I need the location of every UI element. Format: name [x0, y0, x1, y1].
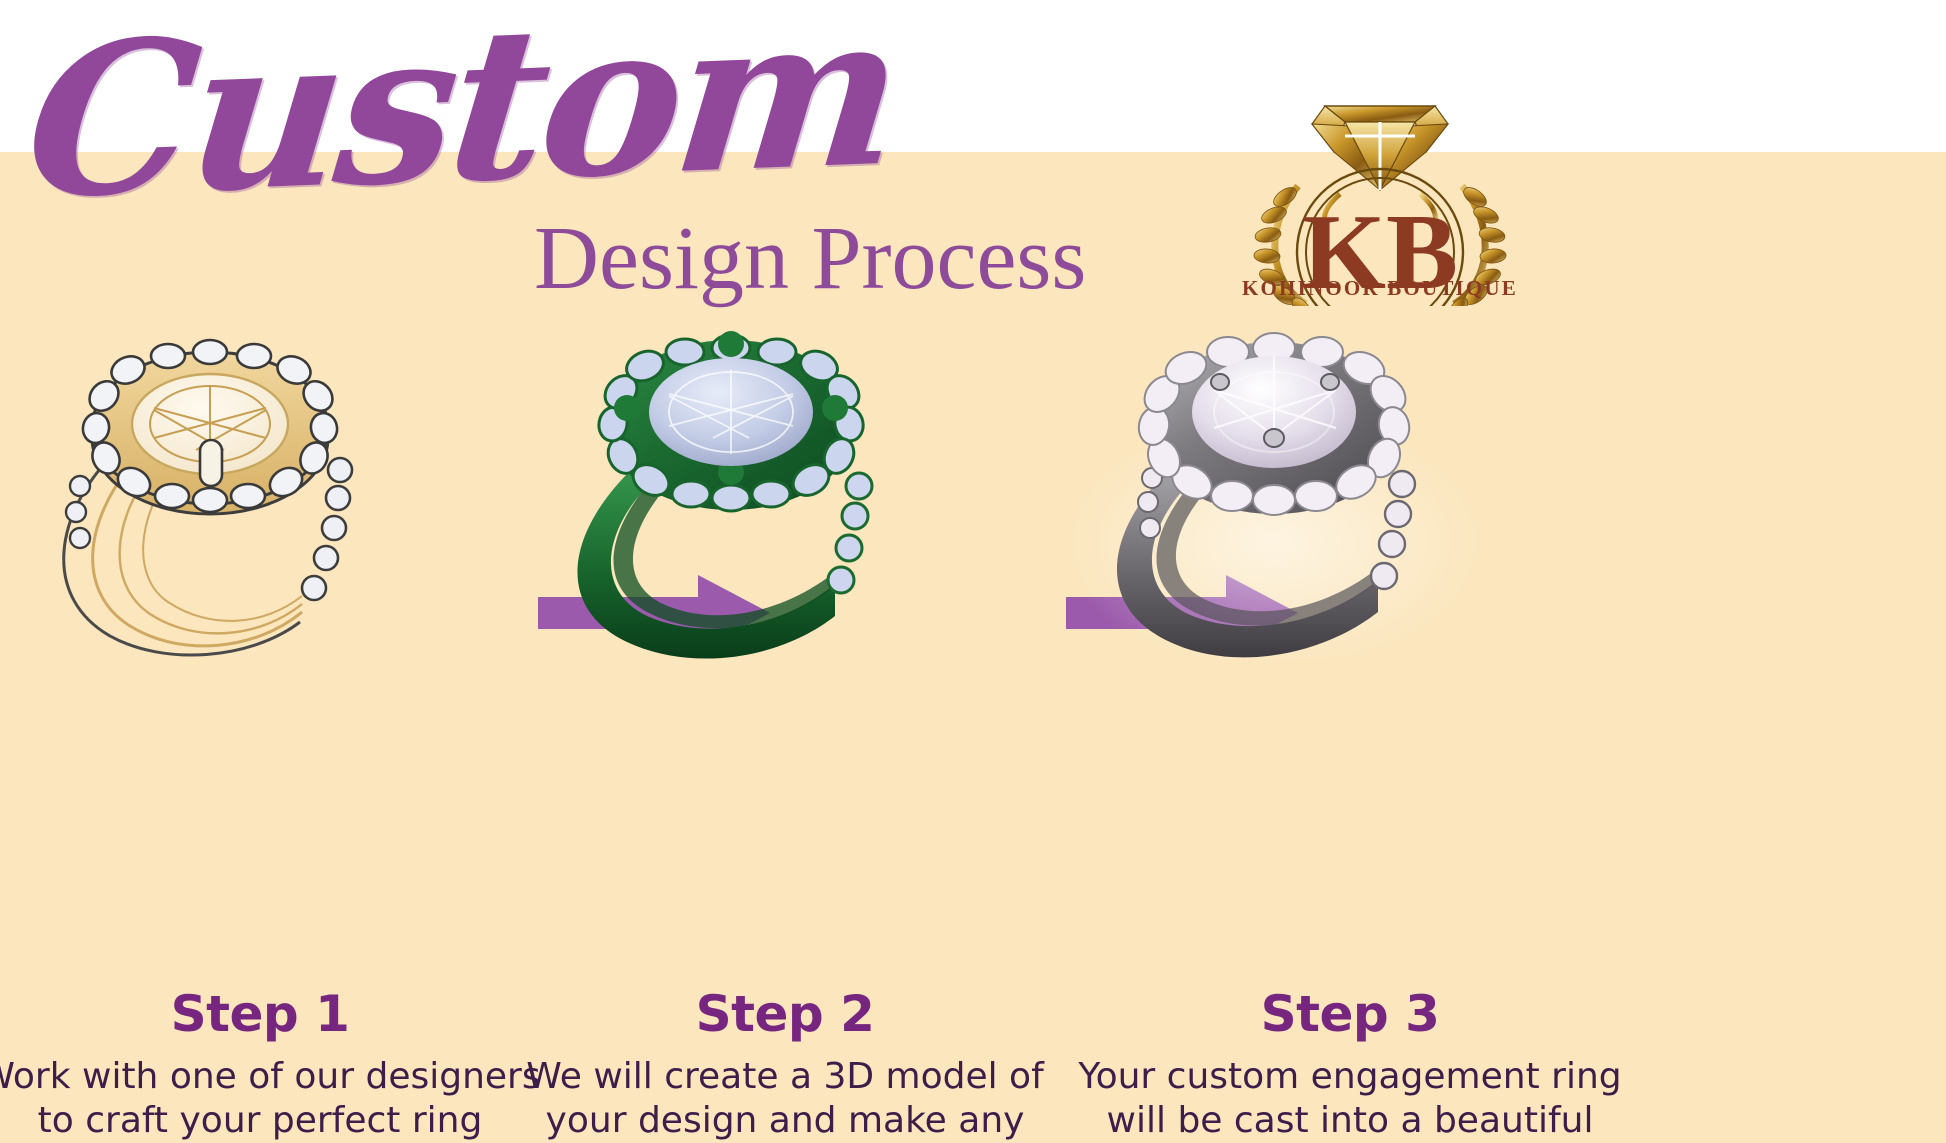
logo-artwork: KB	[1230, 66, 1530, 306]
infographic-canvas: Custom Design Process	[0, 0, 1946, 1143]
ring-3d-model-green	[505, 330, 1065, 660]
step-2-title: Step 2	[505, 985, 1065, 1043]
step-3-title: Step 3	[1070, 985, 1630, 1043]
step-2-desc-line-1: We will create a 3D model of	[475, 1055, 1095, 1099]
brand-logo[interactable]: KB	[1230, 66, 1530, 306]
page-title-script: Custom	[19, 0, 906, 228]
step-3-desc-line-2: will be cast into a beautiful	[1040, 1099, 1660, 1143]
ring-finished-photo	[1040, 330, 1600, 660]
ring-cad-sketch	[0, 330, 550, 660]
page-subtitle: Design Process	[534, 214, 1086, 304]
step-3-block: Step 3 Your custom engagement ring will …	[1040, 330, 1600, 660]
step-3-description: Your custom engagement ring will be cast…	[1040, 1055, 1660, 1143]
step-2-block: Step 2 We will create a 3D model of your…	[505, 330, 1065, 660]
step-3-desc-line-1: Your custom engagement ring	[1040, 1055, 1660, 1099]
step-2-description: We will create a 3D model of your design…	[475, 1055, 1095, 1143]
step-1-title: Step 1	[0, 985, 540, 1043]
brand-name: KOHINOOR BOUTIQUE	[1222, 276, 1538, 301]
step-2-desc-line-2: your design and make any	[475, 1099, 1095, 1143]
step-1-block: Step 1 Work with one of our designers to…	[0, 330, 550, 660]
